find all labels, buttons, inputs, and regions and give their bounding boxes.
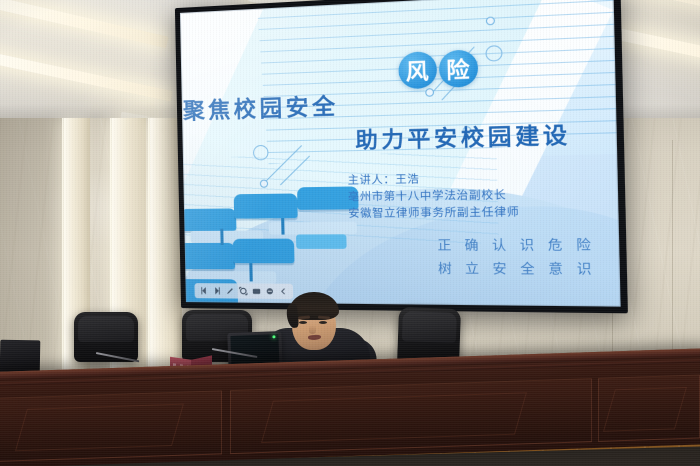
- slide-presenter-block: 主讲人：王浩 亳州市第十八中学法治副校长 安徽智立律师事务所副主任律师: [348, 169, 520, 223]
- person-eye: [319, 321, 327, 324]
- pen-icon[interactable]: [226, 286, 235, 295]
- projection-screen[interactable]: 聚焦校园安全 风 险 助力平安校园建设 主讲人：王浩 亳州市第十八中学法治副校长…: [180, 0, 621, 307]
- person-hair-side: [286, 303, 299, 328]
- person-nose: [309, 325, 316, 334]
- presenter-role-line-1: 亳州市第十八中学法治副校长: [348, 186, 519, 205]
- slide-title-left: 聚焦校园安全: [183, 88, 339, 126]
- podium-panel: [598, 375, 700, 442]
- screenshot-root: 聚焦校园安全 风 险 助力平安校园建设 主讲人：王浩 亳州市第十八中学法治副校长…: [0, 0, 700, 466]
- podium-panel: [0, 390, 222, 461]
- slide-keyword-badges: 风 险: [397, 49, 479, 89]
- chair-backrest: [78, 316, 134, 342]
- podium-panel: [230, 378, 592, 454]
- chair-backrest: [402, 311, 458, 343]
- lecture-hall-room: 聚焦校园安全 风 险 助力平安校园建设 主讲人：王浩 亳州市第十八中学法治副校长…: [0, 0, 700, 466]
- slogan-line-1: 正 确 认 识 危 险: [437, 233, 596, 257]
- keyword-badge-risk-2: 险: [438, 49, 478, 88]
- slide-thumbnails-icon[interactable]: [252, 287, 261, 296]
- zoom-icon[interactable]: [239, 286, 248, 295]
- slogan-line-2: 树 立 安 全 意 识: [438, 257, 597, 281]
- next-slide-icon[interactable]: [212, 286, 221, 295]
- slide-text-layer: 聚焦校园安全 风 险 助力平安校园建设 主讲人：王浩 亳州市第十八中学法治副校长…: [180, 0, 621, 307]
- previous-slide-icon[interactable]: [199, 286, 208, 295]
- presenter-role-line-2: 安徽智立律师事务所副主任律师: [348, 204, 519, 223]
- slide-title-sub: 助力平安校园建设: [355, 118, 571, 155]
- laptop-screen: [230, 334, 279, 366]
- projection-screen-frame: 聚焦校园安全 风 险 助力平安校园建设 主讲人：王浩 亳州市第十八中学法治副校长…: [175, 0, 628, 313]
- person-eye: [299, 321, 307, 324]
- power-led-icon: [272, 335, 275, 338]
- slide-slogan-block: 正 确 认 识 危 险 树 立 安 全 意 识: [437, 233, 596, 281]
- keyword-badge-risk-1: 风: [398, 51, 437, 89]
